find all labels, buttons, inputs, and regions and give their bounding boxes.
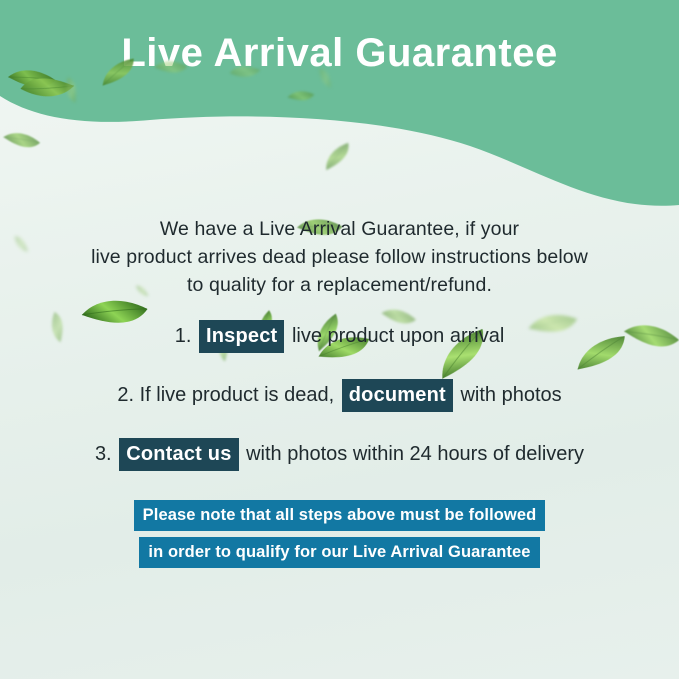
intro-line: to quality for a replacement/refund. — [60, 271, 619, 299]
intro-line: live product arrives dead please follow … — [60, 243, 619, 271]
step-highlight: Contact us — [119, 438, 238, 471]
note-banner: Please note that all steps above must be… — [0, 500, 679, 568]
intro-line: We have a Live Arrival Guarantee, if you… — [60, 215, 619, 243]
step-text-after: with photos — [460, 384, 561, 406]
step-text-after: live product upon arrival — [292, 325, 504, 347]
note-row: in order to qualify for our Live Arrival… — [0, 537, 679, 568]
step-number: 1. — [175, 325, 197, 347]
step-item: 1. Inspect live product upon arrival — [40, 320, 639, 353]
live-arrival-guarantee-graphic: Live Arrival Guarantee We have a Live Ar… — [0, 0, 679, 679]
step-number: 2. — [117, 384, 139, 406]
note-row: Please note that all steps above must be… — [0, 500, 679, 531]
step-text-before: If live product is dead, — [140, 384, 335, 406]
step-highlight: Inspect — [199, 320, 284, 353]
step-item: 2. If live product is dead, document wit… — [40, 379, 639, 412]
step-text-after: with photos within 24 hours of delivery — [246, 443, 584, 465]
steps-list: 1. Inspect live product upon arrival2. I… — [40, 320, 639, 471]
step-number: 3. — [95, 443, 117, 465]
intro-paragraph: We have a Live Arrival Guarantee, if you… — [60, 215, 619, 299]
page-title: Live Arrival Guarantee — [0, 31, 679, 76]
note-line: Please note that all steps above must be… — [134, 500, 546, 531]
step-highlight: document — [342, 379, 453, 412]
note-line: in order to qualify for our Live Arrival… — [139, 537, 539, 568]
leaf-icon — [3, 229, 40, 259]
step-item: 3. Contact us with photos within 24 hour… — [40, 438, 639, 471]
